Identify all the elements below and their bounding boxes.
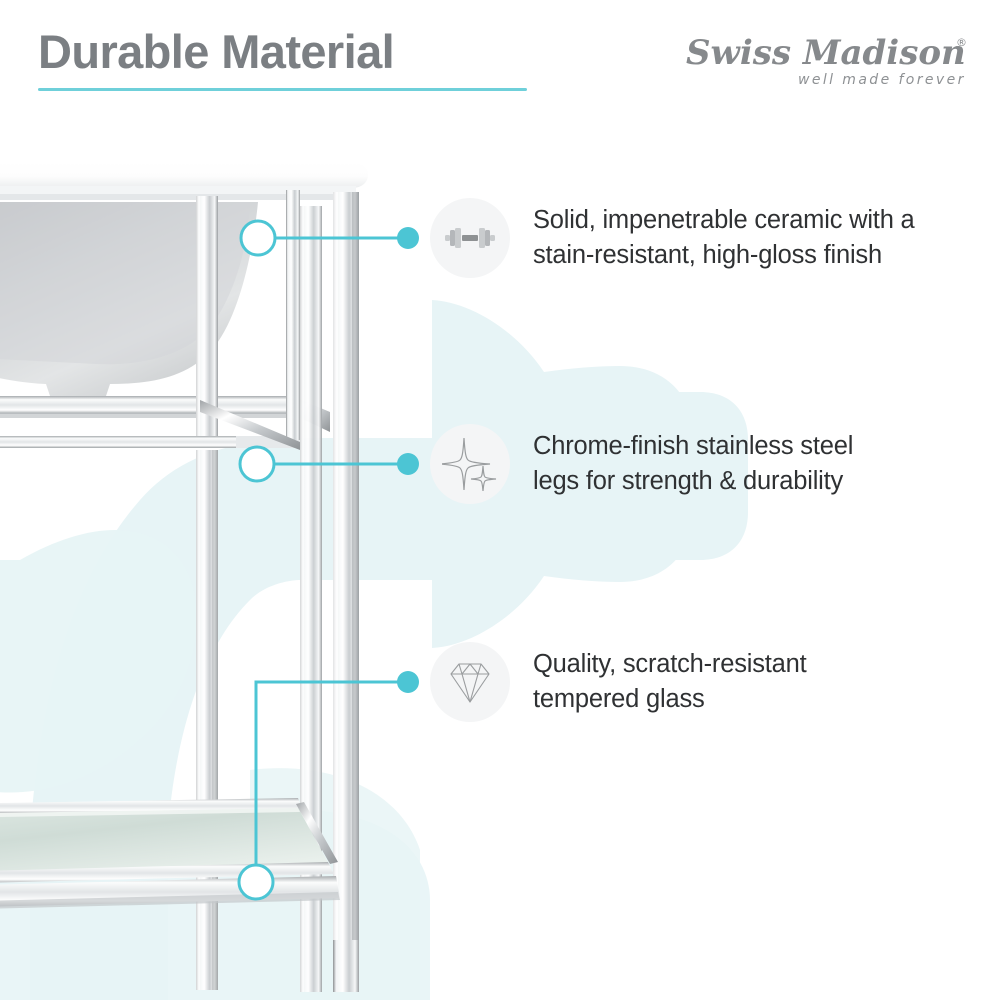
ceramic-countertop — [0, 162, 368, 200]
frame-rear-left-post — [286, 190, 300, 440]
callout-ceramic: Solid, impenetrable ceramic with a stain… — [430, 198, 915, 278]
page-title: Durable Material — [38, 24, 394, 79]
callout-text: Quality, scratch-resistant tempered glas… — [533, 647, 807, 717]
brand-logo: Swiss Madison ® well made forever — [678, 28, 978, 90]
frame-front-right-post — [333, 192, 359, 992]
callout-text: Solid, impenetrable ceramic with a stain… — [533, 203, 915, 273]
callout-icon-circle — [430, 198, 510, 278]
brand-tagline-text: well made forever — [798, 72, 966, 88]
page-header: Durable Material Swiss Madison ® well ma… — [0, 0, 1000, 140]
callout-icon-circle — [430, 642, 510, 722]
sparkle-icon — [442, 436, 498, 492]
dumbbell-icon — [444, 218, 496, 258]
callout-glass: Quality, scratch-resistant tempered glas… — [430, 642, 807, 722]
callout-icon-circle — [430, 424, 510, 504]
frame-inner-upper-post — [196, 196, 218, 436]
title-underline-rule — [38, 88, 527, 91]
callout-text: Chrome-finish stainless steel legs for s… — [533, 429, 853, 499]
undermount-basin — [0, 202, 258, 402]
diamond-icon — [446, 658, 494, 706]
tempered-glass-shelf — [0, 798, 342, 884]
registered-trademark-icon: ® — [956, 36, 967, 49]
frame-upper-back-rail — [0, 396, 330, 432]
brand-name-text: Swiss Madison — [686, 33, 966, 73]
frame-inner-left-post — [196, 450, 218, 990]
infographic-page: Durable Material Swiss Madison ® well ma… — [0, 0, 1000, 1000]
frame-upper-front-rail — [0, 436, 300, 448]
brand-logo-mark: Swiss Madison ® well made forever — [678, 28, 978, 90]
callout-legs: Chrome-finish stainless steel legs for s… — [430, 424, 853, 504]
frame-foot — [333, 940, 359, 992]
product-photo-console-sink — [0, 150, 420, 1000]
